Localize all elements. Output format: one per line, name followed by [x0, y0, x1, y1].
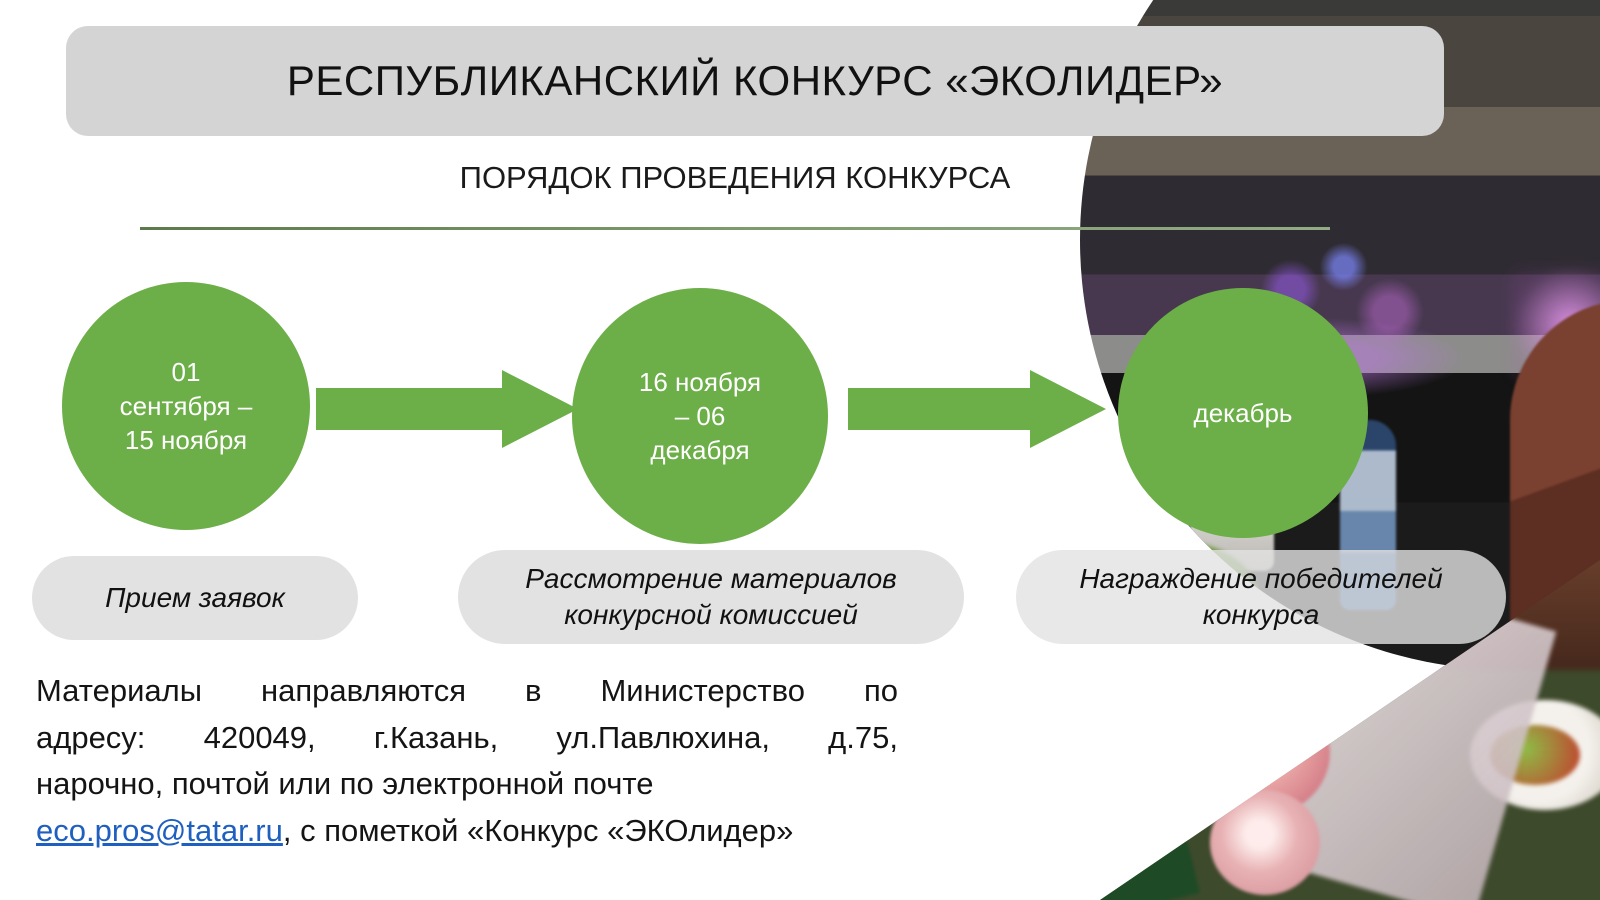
pink-rose: [1210, 790, 1320, 895]
stage-caption-text-2: Рассмотрение материалов конкурсной комис…: [499, 561, 923, 634]
instructions-line-4: eco.pros@tatar.ru, с пометкой «Конкурс «…: [36, 808, 898, 855]
stage-caption-2[interactable]: Рассмотрение материалов конкурсной комис…: [458, 550, 964, 644]
stage-circle-2[interactable]: 16 ноября – 06 декабря: [572, 288, 828, 544]
section-divider: [140, 227, 1330, 230]
stage-circle-3[interactable]: декабрь: [1118, 288, 1368, 538]
bouquet-foliage: [980, 640, 1340, 900]
stage-caption-3[interactable]: Награждение победителей конкурса: [1016, 550, 1506, 644]
slide-title-bar: РЕСПУБЛИКАНСКИЙ КОНКУРС «ЭКОЛИДЕР»: [66, 26, 1444, 136]
instructions-line-2: адресу: 420049, г.Казань, ул.Павлюхина, …: [36, 715, 898, 762]
instructions-line-3: нарочно, почтой или по электронной почте: [36, 761, 898, 808]
pink-carnation: [1200, 690, 1330, 815]
stage-period-1: 01 сентября – 15 ноября: [98, 355, 275, 458]
slide-subtitle: ПОРЯДОК ПРОВЕДЕНИЯ КОНКУРСА: [0, 160, 1470, 196]
pink-carnation: [1050, 680, 1200, 820]
presentation-slide: РЕСПУБЛИКАНСКИЙ КОНКУРС «ЭКОЛИДЕР» ПОРЯД…: [0, 0, 1600, 900]
email-link[interactable]: eco.pros@tatar.ru: [36, 813, 283, 848]
arrow-stage1-to-stage2: [316, 370, 578, 448]
stage-light-glow: [1510, 270, 1600, 380]
stage-circle-1[interactable]: 01 сентября – 15 ноября: [62, 282, 310, 530]
foreground-person: [1510, 300, 1600, 700]
salad-garnish: [1490, 725, 1580, 785]
instructions-line-1: Материалы направляются в Министерство по: [36, 668, 898, 715]
award-certificate-folder: [970, 786, 1200, 900]
instructions-line-4-tail: , с пометкой «Конкурс «ЭКОлидер»: [283, 813, 793, 848]
stage-caption-text-1: Прием заявок: [79, 580, 311, 616]
stage-caption-text-3: Награждение победителей конкурса: [1053, 561, 1468, 634]
stage-period-3: декабрь: [1172, 396, 1315, 430]
white-rose: [910, 760, 1040, 885]
stage-caption-1[interactable]: Прием заявок: [32, 556, 358, 640]
submission-instructions: Материалы направляются в Министерство по…: [36, 668, 898, 854]
slide-title: РЕСПУБЛИКАНСКИЙ КОНКУРС «ЭКОЛИДЕР»: [287, 57, 1223, 105]
serving-plate: [1470, 700, 1600, 810]
stage-period-2: 16 ноября – 06 декабря: [617, 365, 783, 468]
arrow-stage2-to-stage3: [848, 370, 1106, 448]
